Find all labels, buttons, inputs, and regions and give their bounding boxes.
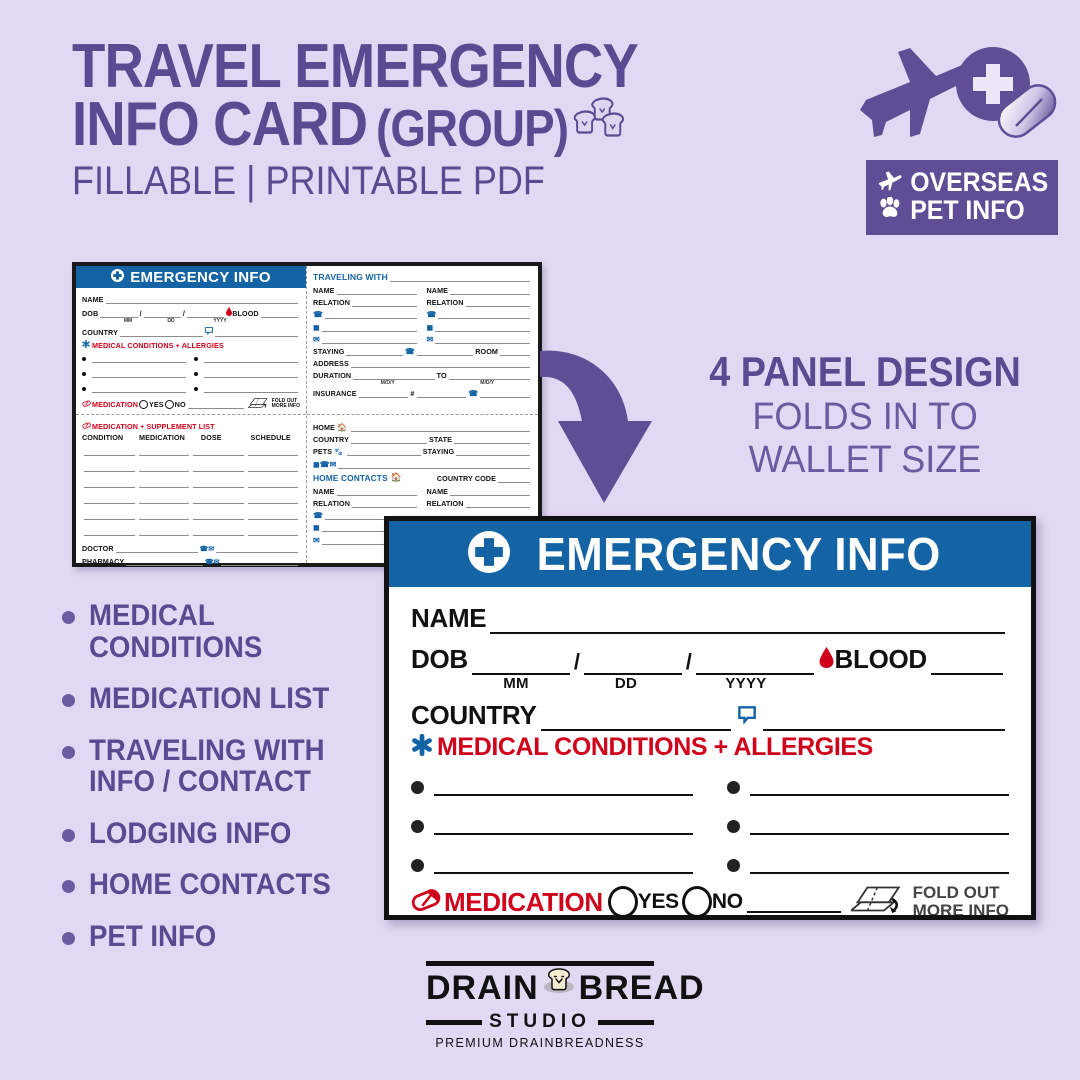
sc-tw-email-field[interactable]	[322, 335, 417, 344]
sc-country-field[interactable]	[120, 328, 203, 337]
bullet-dot-icon	[727, 820, 740, 833]
sc-home-field[interactable]	[351, 423, 530, 432]
sc-home-label: HOME	[313, 423, 335, 432]
sc-doctor-label: DOCTOR	[82, 544, 114, 553]
sc-dob-label: DOB	[82, 309, 98, 318]
sc-med-cell[interactable]	[139, 463, 190, 472]
list-item: HOME CONTACTS	[62, 869, 392, 901]
sc-tw2-email-field[interactable]	[435, 335, 530, 344]
large-card-header-label: EMERGENCY INFO	[537, 527, 941, 581]
bullet-dot-icon	[411, 820, 424, 833]
promo-line1: 4 PANEL DESIGN	[694, 348, 1036, 396]
medical-cross-icon	[111, 269, 124, 286]
big-condition-field[interactable]	[434, 846, 693, 874]
big-yes-label: YES	[638, 890, 679, 914]
sc-medication-field[interactable]	[188, 400, 244, 409]
house-icon: 🏠	[391, 472, 402, 483]
sc-medication-yes-radio[interactable]	[139, 400, 148, 409]
paw-icon	[878, 196, 902, 224]
star-of-life-icon	[411, 734, 433, 761]
feature-label: HOME CONTACTS	[89, 869, 331, 901]
sc-condition-field[interactable]	[204, 384, 298, 393]
bullet-dot-icon	[411, 859, 424, 872]
sc-tw-relation-field[interactable]	[352, 298, 417, 307]
list-item: MEDICAL CONDITIONS	[62, 600, 392, 663]
promo-text-block: 4 PANEL DESIGN FOLDS IN TO WALLET SIZE	[675, 348, 1055, 481]
big-medication-label: MEDICATION	[444, 887, 603, 915]
large-emergency-info-card: EMERGENCY INFO NAME DOB / / BLOOD	[384, 516, 1036, 920]
page-title-line1: TRAVEL EMERGENCY	[72, 38, 688, 96]
large-card-header: EMERGENCY INFO	[389, 521, 1031, 587]
sc-medication-label: MEDICATION	[92, 400, 138, 409]
bullet-dot-icon	[62, 932, 75, 945]
sc-hc-relation-label: RELATION	[313, 499, 350, 508]
big-fold-out-line1: FOLD OUT	[913, 884, 1009, 902]
paw-icon: 🐾	[334, 448, 343, 456]
logo-word-bread: BREAD	[579, 969, 705, 1008]
bullet-dot-icon	[727, 781, 740, 794]
sc-insurance-phone-field[interactable]	[480, 389, 530, 398]
promo-line3: WALLET SIZE	[685, 439, 1046, 482]
big-name-field[interactable]	[490, 610, 1005, 634]
sc-name-field[interactable]	[106, 295, 298, 304]
speech-bubble-icon: ◼	[313, 460, 320, 469]
big-dob-dd-hint: DD	[577, 675, 675, 692]
feature-list: MEDICAL CONDITIONS MEDICATION LIST TRAVE…	[62, 600, 392, 972]
bread-slice-icon	[541, 965, 577, 1004]
sc-med-cell[interactable]	[139, 479, 190, 488]
bullet-dot-icon	[62, 746, 75, 759]
small-card-left-column: EMERGENCY INFO NAME DOB / / BLOOD MM DD	[76, 266, 307, 563]
sc-doctor-field[interactable]	[116, 544, 198, 553]
sc-no-label: NO	[175, 400, 186, 409]
sc-med-rows	[82, 447, 300, 536]
pill-capsule-icon	[82, 400, 91, 409]
logo-studio-label: STUDIO	[489, 1011, 591, 1033]
sc-col-medication: MEDICATION	[139, 433, 201, 442]
list-item: LODGING INFO	[62, 818, 392, 850]
bullet-dot-icon	[727, 859, 740, 872]
sc-med-cell[interactable]	[139, 447, 190, 456]
big-dob-dd-field[interactable]	[584, 651, 682, 675]
sc-insurance-label: INSURANCE	[313, 389, 357, 398]
sc-col-schedule: SCHEDULE	[250, 433, 300, 442]
sc-hc2-relation-label: RELATION	[427, 499, 464, 508]
sc-doctor-contact-field[interactable]	[216, 544, 298, 553]
sc-staying-phone-field[interactable]	[417, 347, 473, 356]
phone-icon: ☎	[468, 389, 478, 398]
sc-duration-from-field[interactable]	[353, 371, 434, 380]
bullet-dot-icon	[411, 781, 424, 794]
sc-country-extra-field[interactable]	[215, 328, 298, 337]
list-item: TRAVELING WITH INFO / CONTACT	[62, 735, 392, 798]
big-dob-yyyy-field[interactable]	[696, 651, 814, 675]
sc-room-field[interactable]	[500, 347, 530, 356]
sc-condition-field[interactable]	[92, 354, 186, 363]
big-dob-mm-hint: MM	[467, 675, 565, 692]
logo-tagline: PREMIUM DRAINBREADNESS	[426, 1036, 654, 1050]
page-header: TRAVEL EMERGENCY INFO CARD (GROUP) FILLA…	[72, 38, 772, 204]
medical-cross-icon	[468, 531, 510, 578]
sc-med-cell[interactable]	[248, 479, 299, 488]
sc-hc-name-label: NAME	[313, 487, 335, 496]
phone-icon: ☎	[313, 310, 323, 319]
sc-med-cell[interactable]	[139, 527, 190, 536]
brand-logo: DRAIN BREAD STUDIO PREMIUM DRAINBREADNES…	[0, 961, 1080, 1052]
sc-med-cell[interactable]	[84, 463, 135, 472]
sc-med-cell[interactable]	[193, 479, 244, 488]
badge-label-pet-info: PET INFO	[910, 196, 1025, 224]
small-card-emergency-header: EMERGENCY INFO	[76, 266, 306, 288]
sc-country-code-field[interactable]	[498, 474, 530, 483]
logo-wordmark: DRAIN BREAD	[426, 969, 705, 1008]
big-condition-field[interactable]	[434, 807, 693, 835]
email-icon: ✉	[214, 558, 220, 566]
big-dob-yyyy-hint: YYYY	[687, 675, 805, 692]
sc-medical-heading: MEDICAL CONDITIONS + ALLERGIES	[92, 341, 224, 350]
sc-dob-mm-field[interactable]	[100, 309, 137, 318]
sc-med-cell[interactable]	[84, 511, 135, 520]
big-country-extra-field[interactable]	[763, 707, 1006, 731]
feature-label: PET INFO	[89, 921, 216, 953]
sc-country-code-label: COUNTRY CODE	[437, 474, 496, 483]
sc-hc2-name-label: NAME	[427, 487, 449, 496]
sc-blood-field[interactable]	[261, 309, 298, 318]
phone-icon: ☎	[313, 511, 323, 520]
sc-pets-contact-field[interactable]	[338, 460, 530, 469]
airplane-icon	[878, 168, 902, 196]
page-title-group: (GROUP)	[367, 105, 568, 153]
big-medication-field[interactable]	[747, 891, 841, 913]
sc-pets-staying-field[interactable]	[456, 447, 530, 456]
sc-med-cell[interactable]	[139, 511, 190, 520]
badge-row-pet-info: PET INFO	[878, 196, 1034, 224]
sc-condition-field[interactable]	[92, 384, 186, 393]
sc-traveling-heading: TRAVELING WITH	[313, 272, 388, 282]
sc-home-state-label: STATE	[429, 435, 452, 444]
sc-med-cell[interactable]	[248, 511, 299, 520]
speech-bubble-icon: ◼	[427, 323, 434, 332]
sc-staying-label: STAYING	[313, 347, 344, 356]
sc-med-cell[interactable]	[248, 447, 299, 456]
bullet-dot-icon	[62, 694, 75, 707]
sc-pets-label: PETS	[313, 447, 332, 456]
feature-label: TRAVELING WITH INFO / CONTACT	[89, 735, 325, 798]
bullet-dot-icon	[62, 880, 75, 893]
sc-dob-mm-hint: MM	[108, 318, 148, 324]
email-icon: ✉	[330, 460, 337, 469]
phone-icon: ☎	[427, 310, 437, 319]
email-icon: ✉	[427, 335, 434, 344]
sc-tw2-relation-field[interactable]	[466, 298, 531, 307]
big-condition-field[interactable]	[434, 768, 693, 796]
sc-med-cell[interactable]	[193, 527, 244, 536]
sc-med-cell[interactable]	[193, 447, 244, 456]
sc-home-state-field[interactable]	[454, 435, 530, 444]
fold-out-icon	[851, 884, 907, 915]
sc-address-field[interactable]	[351, 359, 530, 368]
sc-duration-to-field[interactable]	[449, 371, 530, 380]
sc-med-cell[interactable]	[84, 447, 135, 456]
list-item: PET INFO	[62, 921, 392, 953]
sc-med-cell[interactable]	[193, 511, 244, 520]
page-title-line2-row: INFO CARD (GROUP)	[72, 96, 688, 154]
email-icon: ✉	[313, 335, 320, 344]
feature-label: MEDICATION LIST	[89, 683, 329, 715]
phone-icon: ☎	[320, 460, 330, 469]
sc-dob-dd-field[interactable]	[144, 309, 181, 318]
list-item: MEDICATION LIST	[62, 683, 392, 715]
sc-tw2-message-field[interactable]	[435, 323, 530, 332]
big-condition-field[interactable]	[750, 846, 1009, 874]
star-of-life-icon	[82, 340, 90, 350]
pill-capsule-icon	[82, 422, 91, 431]
sc-tw2-name-label: NAME	[427, 286, 449, 295]
speech-bubble-icon	[205, 327, 213, 337]
speech-bubble-icon: ◼	[313, 523, 320, 532]
sc-room-label: ROOM	[475, 347, 498, 356]
small-card-header-label: EMERGENCY INFO	[130, 269, 271, 286]
logo-word-drain: DRAIN	[426, 969, 539, 1008]
sc-duration-label: DURATION	[313, 371, 351, 380]
sc-dob-dd-hint: DD	[148, 318, 194, 324]
sc-dob-yyyy-field[interactable]	[187, 309, 224, 318]
bullet-dot-icon	[62, 829, 75, 842]
sc-hc-name-field[interactable]	[337, 487, 417, 496]
pill-capsule-icon	[411, 889, 441, 915]
sc-yes-label: YES	[149, 400, 164, 409]
phone-icon: ☎	[405, 347, 415, 356]
sc-med-cell[interactable]	[248, 495, 299, 504]
sc-dob-yyyy-hint: YYYY	[194, 318, 246, 324]
speech-bubble-icon: ◼	[313, 323, 320, 332]
sc-insurance-num-label: #	[410, 389, 414, 398]
big-medication-no-radio[interactable]	[682, 886, 712, 915]
sc-med-cell[interactable]	[84, 479, 135, 488]
big-dob-label: DOB	[411, 644, 468, 675]
sc-insurance-field[interactable]	[359, 389, 409, 398]
feature-label: MEDICAL CONDITIONS	[89, 600, 368, 663]
sc-home-contacts-heading: HOME CONTACTS	[313, 473, 388, 483]
sc-tw2-name-field[interactable]	[450, 286, 530, 295]
page-subtitle: FILLABLE | PRINTABLE PDF	[72, 159, 702, 204]
sc-med-cell[interactable]	[139, 495, 190, 504]
sc-med-list-heading: MEDICATION + SUPPLEMENT LIST	[92, 422, 215, 431]
sc-hc-relation-field[interactable]	[352, 499, 417, 508]
sc-home-country-field[interactable]	[351, 435, 427, 444]
sc-med-cell[interactable]	[84, 495, 135, 504]
sc-home-country-label: COUNTRY	[313, 435, 349, 444]
sc-name-label: NAME	[82, 295, 104, 304]
page-title-line2: INFO CARD	[72, 96, 367, 154]
big-dob-mm-field[interactable]	[472, 651, 570, 675]
sc-pharmacy-contact-field[interactable]	[221, 557, 298, 566]
email-icon: ✉	[208, 545, 214, 553]
big-blood-label: BLOOD	[835, 644, 927, 675]
sc-tw-phone-field[interactable]	[325, 310, 417, 319]
sc-pets-staying-label: STAYING	[423, 447, 454, 456]
promo-line2: FOLDS IN TO	[685, 396, 1046, 439]
big-blood-field[interactable]	[931, 651, 1003, 675]
sc-tw2-relation-label: RELATION	[427, 298, 464, 307]
big-country-label: COUNTRY	[411, 700, 537, 731]
sc-hc2-name-field[interactable]	[450, 487, 530, 496]
sc-med-cell[interactable]	[248, 527, 299, 536]
sc-to-label: TO	[437, 371, 447, 380]
bread-mascot-group-icon	[573, 92, 626, 150]
sc-duration-from-hint: M/D/Y	[343, 380, 433, 386]
feature-label: LODGING INFO	[89, 818, 291, 850]
sc-med-cell[interactable]	[193, 495, 244, 504]
sc-med-cell[interactable]	[84, 527, 135, 536]
sc-country-label: COUNTRY	[82, 328, 118, 337]
curved-down-arrow-icon	[540, 345, 670, 510]
sc-staying-field[interactable]	[346, 347, 402, 356]
sc-tw-name-label: NAME	[313, 286, 335, 295]
sc-hc2-relation-field[interactable]	[466, 499, 531, 508]
sc-condition-field[interactable]	[204, 369, 298, 378]
sc-address-label: ADDRESS	[313, 359, 349, 368]
sc-pets-field[interactable]	[347, 447, 421, 456]
sc-pharmacy-field[interactable]	[126, 557, 203, 566]
badge-row-overseas: OVERSEAS	[878, 168, 1034, 196]
badge-label-overseas: OVERSEAS	[910, 168, 1048, 196]
badge-artwork	[858, 42, 1058, 152]
sc-pharmacy-label: PHARMACY	[82, 557, 124, 566]
sc-traveling-field[interactable]	[390, 273, 530, 282]
sc-fold-out-line2: MORE INFO	[272, 404, 300, 409]
big-condition-field[interactable]	[750, 768, 1009, 796]
house-icon: 🏠	[337, 423, 347, 432]
fold-out-icon	[248, 397, 270, 411]
sc-med-cell[interactable]	[248, 463, 299, 472]
big-condition-field[interactable]	[750, 807, 1009, 835]
overseas-pet-info-badge: OVERSEAS PET INFO	[866, 160, 1058, 235]
big-medication-yes-radio[interactable]	[608, 886, 638, 915]
big-no-label: NO	[712, 890, 743, 914]
sc-col-dose: DOSE	[201, 433, 251, 442]
phone-icon: ☎	[200, 545, 209, 553]
bullet-dot-icon	[62, 611, 75, 624]
big-fold-out-line2: MORE INFO	[913, 902, 1009, 915]
sc-tw2-phone-field[interactable]	[438, 310, 530, 319]
sc-med-cell[interactable]	[193, 463, 244, 472]
sc-tw-name-field[interactable]	[337, 286, 417, 295]
big-medical-heading: MEDICAL CONDITIONS + ALLERGIES	[437, 733, 873, 762]
sc-duration-to-hint: M/D/Y	[443, 380, 533, 386]
sc-condition-field[interactable]	[92, 369, 186, 378]
big-name-label: NAME	[411, 603, 486, 634]
sc-col-condition: CONDITION	[82, 433, 139, 442]
sc-medication-no-radio[interactable]	[165, 400, 174, 409]
sc-tw-message-field[interactable]	[322, 323, 417, 332]
phone-icon: ☎	[205, 558, 214, 566]
sc-insurance-num-field[interactable]	[417, 389, 467, 398]
sc-tw-relation-label: RELATION	[313, 298, 350, 307]
email-icon: ✉	[313, 536, 320, 545]
speech-bubble-icon	[738, 706, 756, 729]
blood-drop-icon	[819, 647, 834, 673]
sc-condition-field[interactable]	[204, 354, 298, 363]
big-country-field[interactable]	[541, 707, 731, 731]
sc-blood-label: BLOOD	[232, 309, 258, 318]
